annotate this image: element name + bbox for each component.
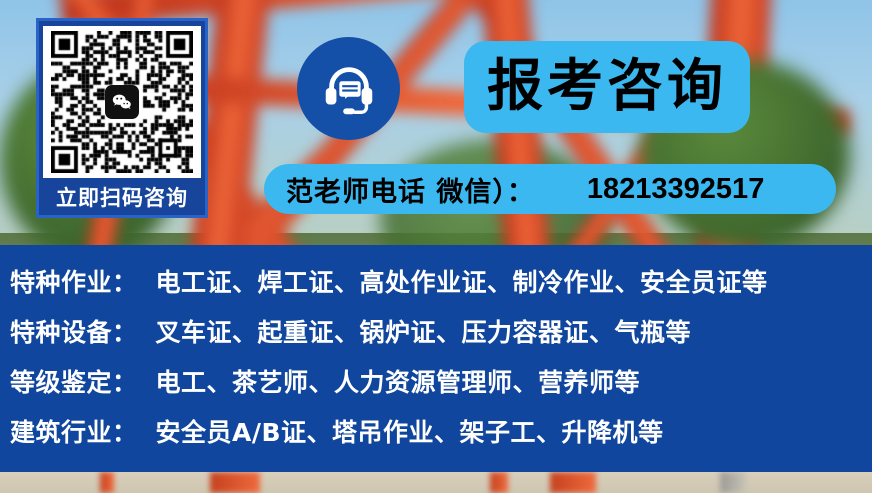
- title-banner: 报考咨询: [464, 41, 750, 133]
- category-label: 等级鉴定：: [10, 363, 138, 399]
- contact-phone-number[interactable]: 18213392517: [587, 173, 764, 206]
- category-row: 特种设备： 叉车证、起重证、锅炉证、压力容器证、气瓶等: [10, 313, 872, 363]
- certificate-category-panel: 特种作业： 电工证、焊工证、高处作业证、制冷作业、安全员证等 特种设备： 叉车证…: [0, 245, 872, 472]
- category-items: 电工证、焊工证、高处作业证、制冷作业、安全员证等: [156, 263, 768, 299]
- category-items: 电工、茶艺师、人力资源管理师、营养师等: [156, 363, 641, 399]
- contact-label: 范老师电话 微信）：: [286, 170, 535, 209]
- headset-support-icon: [297, 37, 400, 140]
- page-title: 报考咨询: [487, 59, 727, 115]
- qr-caption: 立即扫码咨询: [56, 178, 188, 215]
- category-label: 特种作业：: [10, 263, 138, 299]
- category-label: 建筑行业：: [10, 413, 138, 449]
- category-items: 叉车证、起重证、锅炉证、压力容器证、气瓶等: [156, 313, 692, 349]
- category-label: 特种设备：: [10, 313, 138, 349]
- qr-code-card[interactable]: 立即扫码咨询: [36, 18, 208, 218]
- promo-poster: 立即扫码咨询 报考咨询 范老师电话 微信）： 18213392517 特种作业：…: [0, 0, 872, 493]
- wechat-icon: [105, 85, 139, 119]
- qr-code-image[interactable]: [43, 26, 201, 178]
- category-row: 建筑行业： 安全员A/B证、塔吊作业、架子工、升降机等: [10, 413, 872, 463]
- contact-banner[interactable]: 范老师电话 微信）： 18213392517: [264, 164, 836, 214]
- category-items: 安全员A/B证、塔吊作业、架子工、升降机等: [156, 413, 664, 449]
- category-row: 特种作业： 电工证、焊工证、高处作业证、制冷作业、安全员证等: [10, 263, 872, 313]
- qr-code-matrix: [51, 31, 193, 173]
- bottom-photo-strip: [0, 472, 872, 493]
- category-row: 等级鉴定： 电工、茶艺师、人力资源管理师、营养师等: [10, 363, 872, 413]
